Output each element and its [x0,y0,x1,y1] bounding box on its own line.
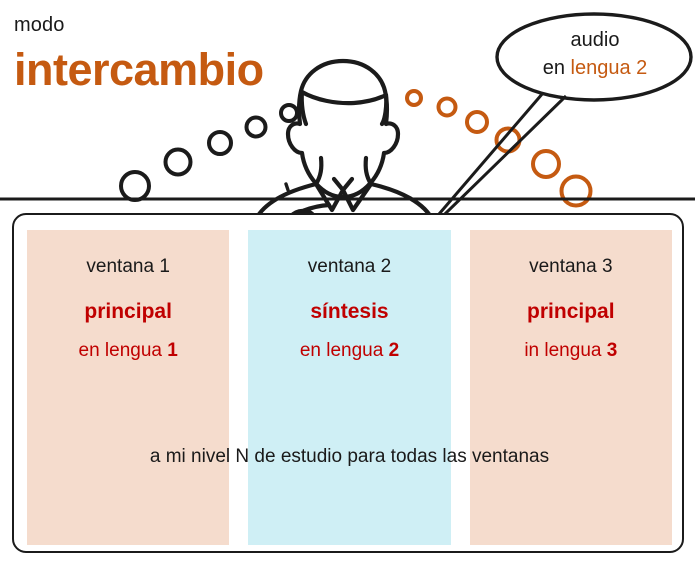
window-lang-2: en lengua 2 [248,340,450,362]
window-label-2: ventana 2 [248,256,450,278]
window-role-1: principal [27,300,229,324]
window-label-1: ventana 1 [27,256,229,278]
window-lang-1: en lengua 1 [27,340,229,362]
window-role-3: principal [470,300,672,324]
window-lang-prefix-3: in lengua [524,340,606,361]
speech-bubble-line-1: audio [505,26,685,54]
window-lang-number-3: 3 [607,340,618,361]
diagram-canvas: modo intercambio [0,0,695,571]
page-title: intercambio [14,44,264,96]
windows-columns: ventana 1 principal en lengua 1 ventana … [27,230,672,545]
window-column-2[interactable]: ventana 2 síntesis en lengua 2 [248,230,450,545]
eyebrow-label: modo [14,14,64,37]
window-lang-prefix-2: en lengua [300,340,389,361]
speech-bubble-line-2: en lengua 2 [505,54,685,82]
window-role-2: síntesis [248,300,450,324]
speech-bubble-line-2-accent: lengua 2 [571,57,648,79]
window-column-1[interactable]: ventana 1 principal en lengua 1 [27,230,229,545]
thought-bubbles-right [407,91,591,206]
window-lang-3: in lengua 3 [470,340,672,362]
speech-bubble-text: audio en lengua 2 [505,26,685,83]
window-lang-number-2: 2 [389,340,400,361]
window-lang-prefix-1: en lengua [79,340,168,361]
speech-bubble-line-2-prefix: en [543,57,571,79]
window-column-3[interactable]: ventana 3 principal in lengua 3 [470,230,672,545]
window-lang-number-1: 1 [167,340,178,361]
footer-note: a mi nivel N de estudio para todas las v… [27,446,672,468]
window-label-3: ventana 3 [470,256,672,278]
thought-bubbles-left [121,105,297,200]
